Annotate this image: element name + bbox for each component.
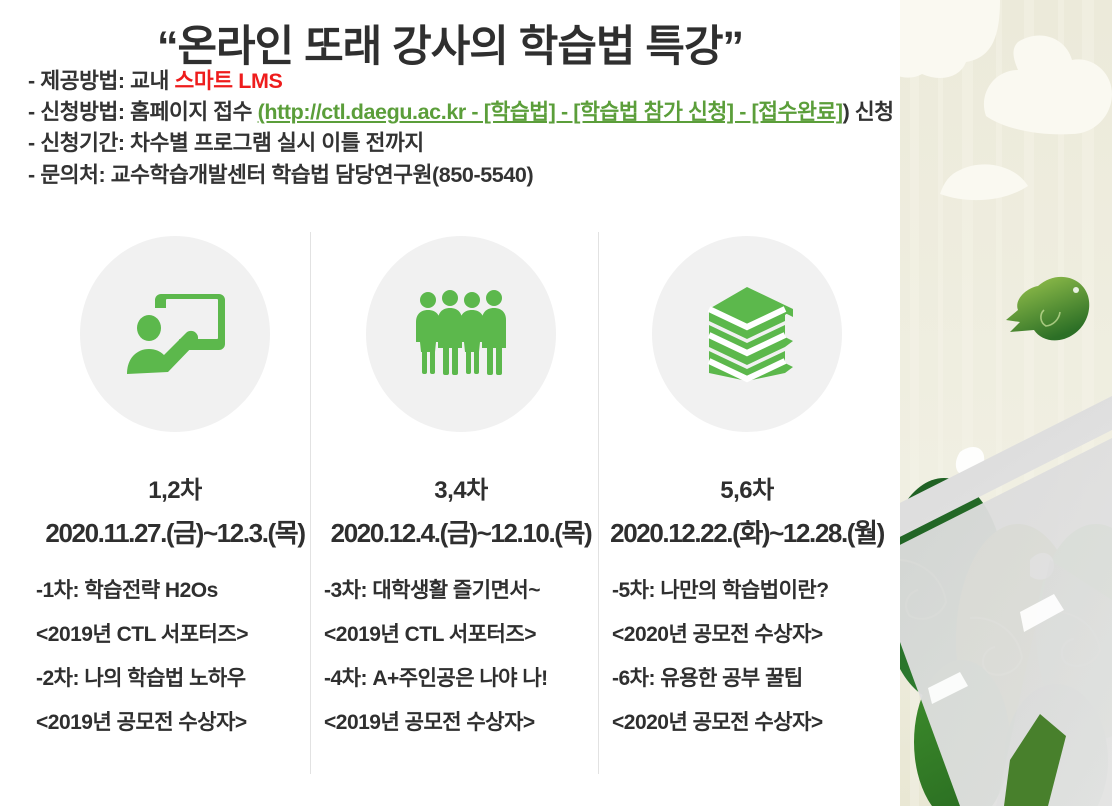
list-item: -2차: 나의 학습법 노하우: [36, 668, 318, 689]
list-item: <2019년 공모전 수상자>: [324, 712, 604, 733]
list-item: -6차: 유용한 공부 꿀팁: [612, 668, 890, 689]
info-line-contact: - 문의처: 교수학습개발센터 학습법 담당연구원(850-5540): [28, 160, 906, 191]
application-url-link[interactable]: (http://ctl.daegu.ac.kr - [학습법] - [학습법 참…: [258, 100, 843, 124]
list-item: -5차: 나만의 학습법이란?: [612, 580, 890, 601]
list-item: <2019년 공모전 수상자>: [36, 712, 318, 733]
list-item: <2020년 공모전 수상자>: [612, 624, 890, 645]
column-date-3: 2020.12.22.(화)~12.28.(월): [604, 513, 890, 550]
group-of-people-icon: [366, 236, 556, 432]
column-heading-1: 1,2차: [32, 470, 318, 505]
list-item: <2020년 공모전 수상자>: [612, 712, 890, 733]
content-area: “온라인 또래 강사의 학습법 특강” - 제공방법: 교내 스마트 LMS -…: [0, 0, 900, 806]
poster-canvas: “온라인 또래 강사의 학습법 특강” - 제공방법: 교내 스마트 LMS -…: [0, 0, 1112, 806]
decorative-artwork: [900, 0, 1112, 806]
column-list-2: -3차: 대학생활 즐기면서~ <2019년 CTL 서포터즈> -4차: A+…: [318, 580, 604, 756]
session-column-3: 5,6차 2020.12.22.(화)~12.28.(월) -5차: 나만의 학…: [604, 228, 890, 788]
column-list-3: -5차: 나만의 학습법이란? <2020년 공모전 수상자> -6차: 유용한…: [604, 580, 890, 756]
session-column-2: 3,4차 2020.12.4.(금)~12.10.(목) -3차: 대학생활 즐…: [318, 228, 604, 788]
column-heading-3: 5,6차: [604, 470, 890, 505]
column-date-1: 2020.11.27.(금)~12.3.(목): [32, 513, 318, 550]
column-heading-2: 3,4차: [318, 470, 604, 505]
info-line-apply: - 신청방법: 홈페이지 접수 (http://ctl.daegu.ac.kr …: [28, 97, 906, 128]
smart-lms-highlight: 스마트 LMS: [175, 69, 283, 93]
info-label-method: - 제공방법: 교내: [28, 69, 175, 93]
info-block: - 제공방법: 교내 스마트 LMS - 신청방법: 홈페이지 접수 (http…: [28, 66, 906, 191]
stack-of-books-icon: [652, 236, 842, 432]
teacher-whiteboard-icon: [80, 236, 270, 432]
info-label-apply: - 신청방법: 홈페이지 접수: [28, 100, 258, 124]
list-item: -4차: A+주인공은 나야 나!: [324, 668, 604, 689]
page-title: “온라인 또래 강사의 학습법 특강”: [0, 12, 900, 74]
info-line-method: - 제공방법: 교내 스마트 LMS: [28, 66, 906, 97]
session-column-1: 1,2차 2020.11.27.(금)~12.3.(목) -1차: 학습전략 H…: [32, 228, 318, 788]
info-line-period: - 신청기간: 차수별 프로그램 실시 이틀 전까지: [28, 128, 906, 159]
column-date-2: 2020.12.4.(금)~12.10.(목): [318, 513, 604, 550]
list-item: -1차: 학습전략 H2Os: [36, 580, 318, 601]
column-list-1: -1차: 학습전략 H2Os <2019년 CTL 서포터즈> -2차: 나의 …: [32, 580, 318, 756]
list-item: <2019년 CTL 서포터즈>: [324, 624, 604, 645]
list-item: -3차: 대학생활 즐기면서~: [324, 580, 604, 601]
info-apply-tail: ) 신청: [843, 100, 894, 124]
list-item: <2019년 CTL 서포터즈>: [36, 624, 318, 645]
